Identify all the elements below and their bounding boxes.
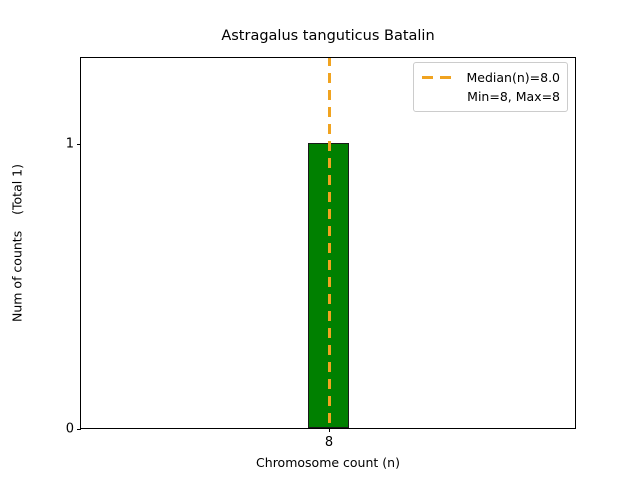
x-axis-label: Chromosome count (n) (80, 455, 576, 470)
legend-entry-median: Median(n)=8.0 (421, 68, 560, 87)
y-tick-label-1: 1 (66, 136, 74, 151)
y-tick-mark-0 (77, 429, 81, 430)
x-tick-mark-8 (329, 428, 330, 432)
y-tick-label-0: 0 (66, 421, 74, 436)
y-axis-label-line1: Num of counts (10, 231, 25, 322)
y-axis-label: Num of counts (Total 1) (10, 164, 25, 322)
y-axis-label-container: Num of counts (Total 1) (0, 57, 34, 429)
y-axis-label-spacer (10, 215, 25, 231)
legend-entry-minmax: Min=8, Max=8 (421, 87, 560, 106)
legend: Median(n)=8.0 Min=8, Max=8 (413, 62, 568, 112)
chart-title: Astragalus tanguticus Batalin (80, 28, 576, 44)
legend-label-minmax: Min=8, Max=8 (467, 89, 560, 104)
legend-label-median: Median(n)=8.0 (467, 70, 561, 85)
y-axis-label-line2: (Total 1) (10, 164, 25, 215)
plot-area: 0 1 8 (80, 57, 576, 429)
dashed-line-icon (422, 76, 458, 79)
median-line (328, 58, 331, 428)
figure-canvas: Astragalus tanguticus Batalin Num of cou… (0, 0, 640, 480)
x-tick-label-8: 8 (325, 435, 333, 450)
plot-inner-clip (81, 58, 575, 428)
blank-marker-icon (422, 95, 458, 98)
